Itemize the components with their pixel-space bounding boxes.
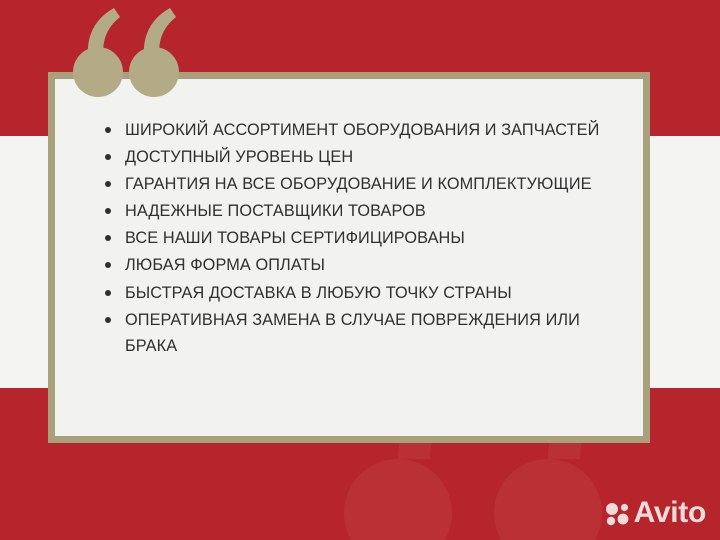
- content-card: ШИРОКИЙ АССОРТИМЕНТ ОБОРУДОВАНИЯ И ЗАПЧА…: [48, 72, 650, 443]
- bullet-dot-icon: [105, 317, 111, 323]
- content-card-surface: ШИРОКИЙ АССОРТИМЕНТ ОБОРУДОВАНИЯ И ЗАПЧА…: [55, 79, 643, 436]
- bullet-dot-icon: [105, 290, 111, 296]
- list-item-label: НАДЕЖНЫЕ ПОСТАВЩИКИ ТОВАРОВ: [125, 198, 617, 225]
- list-item-label: ШИРОКИЙ АССОРТИМЕНТ ОБОРУДОВАНИЯ И ЗАПЧА…: [125, 117, 617, 144]
- list-item: НАДЕЖНЫЕ ПОСТАВЩИКИ ТОВАРОВ: [103, 198, 617, 225]
- list-item: ЛЮБАЯ ФОРМА ОПЛАТЫ: [103, 252, 617, 279]
- bullet-dot-icon: [105, 235, 111, 241]
- list-item-label: ЛЮБАЯ ФОРМА ОПЛАТЫ: [125, 252, 617, 279]
- bullet-dot-icon: [105, 208, 111, 214]
- bullet-dot-icon: [105, 127, 111, 133]
- list-item: ДОСТУПНЫЙ УРОВЕНЬ ЦЕН: [103, 144, 617, 171]
- list-item-label: ВСЕ НАШИ ТОВАРЫ СЕРТИФИЦИРОВАНЫ: [125, 225, 617, 252]
- list-item: ОПЕРАТИВНАЯ ЗАМЕНА В СЛУЧАЕ ПОВРЕЖДЕНИЯ …: [103, 307, 617, 360]
- bullet-dot-icon: [105, 262, 111, 268]
- list-item-label: ОПЕРАТИВНАЯ ЗАМЕНА В СЛУЧАЕ ПОВРЕЖДЕНИЯ …: [125, 307, 617, 360]
- list-item-label: ДОСТУПНЫЙ УРОВЕНЬ ЦЕН: [125, 144, 617, 171]
- benefits-list: ШИРОКИЙ АССОРТИМЕНТ ОБОРУДОВАНИЯ И ЗАПЧА…: [103, 117, 623, 360]
- list-item: БЫСТРАЯ ДОСТАВКА В ЛЮБУЮ ТОЧКУ СТРАНЫ: [103, 280, 617, 307]
- list-item: ВСЕ НАШИ ТОВАРЫ СЕРТИФИЦИРОВАНЫ: [103, 225, 617, 252]
- list-item: ШИРОКИЙ АССОРТИМЕНТ ОБОРУДОВАНИЯ И ЗАПЧА…: [103, 117, 617, 144]
- list-item: ГАРАНТИЯ НА ВСЕ ОБОРУДОВАНИЕ И КОМПЛЕКТУ…: [103, 171, 617, 198]
- bullet-dot-icon: [105, 181, 111, 187]
- list-item-label: БЫСТРАЯ ДОСТАВКА В ЛЮБУЮ ТОЧКУ СТРАНЫ: [125, 280, 617, 307]
- slide-canvas: ШИРОКИЙ АССОРТИМЕНТ ОБОРУДОВАНИЯ И ЗАПЧА…: [0, 0, 720, 540]
- bullet-dot-icon: [105, 154, 111, 160]
- list-item-label: ГАРАНТИЯ НА ВСЕ ОБОРУДОВАНИЕ И КОМПЛЕКТУ…: [125, 171, 617, 198]
